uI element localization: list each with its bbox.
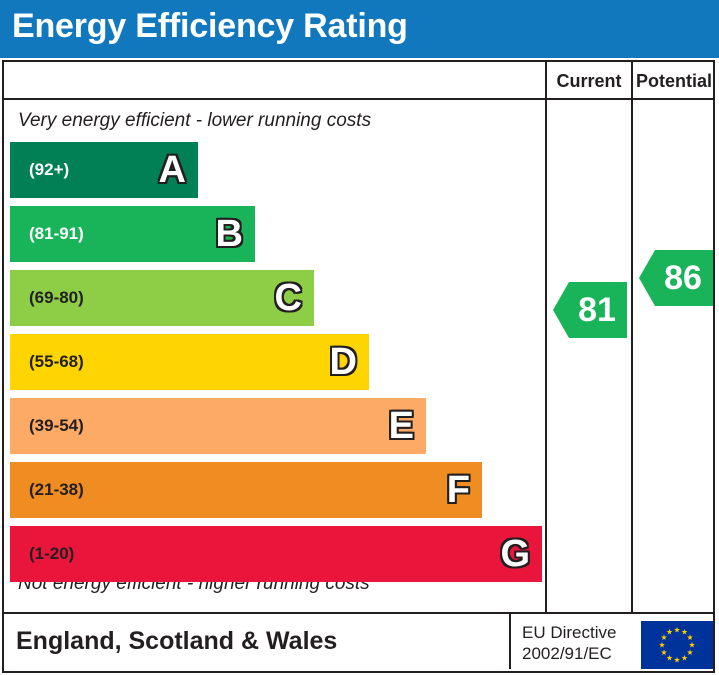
- band-range-label: (21-38): [29, 480, 84, 500]
- rating-band-f: (21-38)F: [10, 462, 482, 518]
- band-range-label: (81-91): [29, 224, 84, 244]
- column-header-current: Current: [547, 71, 631, 92]
- column-divider-current: [545, 62, 547, 612]
- band-range-label: (92+): [29, 160, 69, 180]
- band-range-label: (69-80): [29, 288, 84, 308]
- potential-rating-arrow: 86: [639, 250, 713, 306]
- band-range-label: (55-68): [29, 352, 84, 372]
- title-bar: Energy Efficiency Rating: [0, 0, 719, 58]
- rating-band-c: (69-80)C: [10, 270, 314, 326]
- rating-band-b: (81-91)B: [10, 206, 255, 262]
- rating-band-d: (55-68)D: [10, 334, 369, 390]
- footer-region-label: England, Scotland & Wales: [16, 627, 337, 656]
- band-letter-label: A: [159, 151, 186, 189]
- band-letter-label: G: [500, 535, 530, 573]
- band-letter-label: C: [275, 279, 302, 317]
- band-range-label: (1-20): [29, 544, 74, 564]
- caption-efficient: Very energy efficient - lower running co…: [18, 110, 371, 132]
- page-title: Energy Efficiency Rating: [12, 7, 408, 46]
- eu-directive-line-2: 2002/91/EC: [522, 643, 616, 664]
- rating-table: Current Potential Very energy efficient …: [2, 60, 715, 614]
- certificate-footer: England, Scotland & Wales EU Directive 2…: [2, 614, 715, 673]
- energy-efficiency-rating-certificate: Energy Efficiency Rating Current Potenti…: [0, 0, 719, 675]
- band-letter-label: D: [330, 343, 357, 381]
- rating-bands-chart: Very energy efficient - lower running co…: [4, 100, 545, 612]
- rating-band-g: (1-20)G: [10, 526, 542, 582]
- band-letter-label: F: [447, 471, 470, 509]
- rating-band-e: (39-54)E: [10, 398, 426, 454]
- eu-flag-icon: [641, 621, 713, 669]
- rating-band-a: (92+)A: [10, 142, 198, 198]
- band-letter-label: E: [389, 407, 414, 445]
- band-range-label: (39-54): [29, 416, 84, 436]
- footer-divider: [509, 614, 511, 669]
- band-letter-label: B: [216, 215, 243, 253]
- eu-directive-text: EU Directive 2002/91/EC: [522, 622, 616, 665]
- eu-directive-line-1: EU Directive: [522, 622, 616, 643]
- column-divider-potential: [631, 62, 633, 612]
- column-header-potential: Potential: [633, 71, 715, 92]
- current-rating-arrow: 81: [553, 282, 627, 338]
